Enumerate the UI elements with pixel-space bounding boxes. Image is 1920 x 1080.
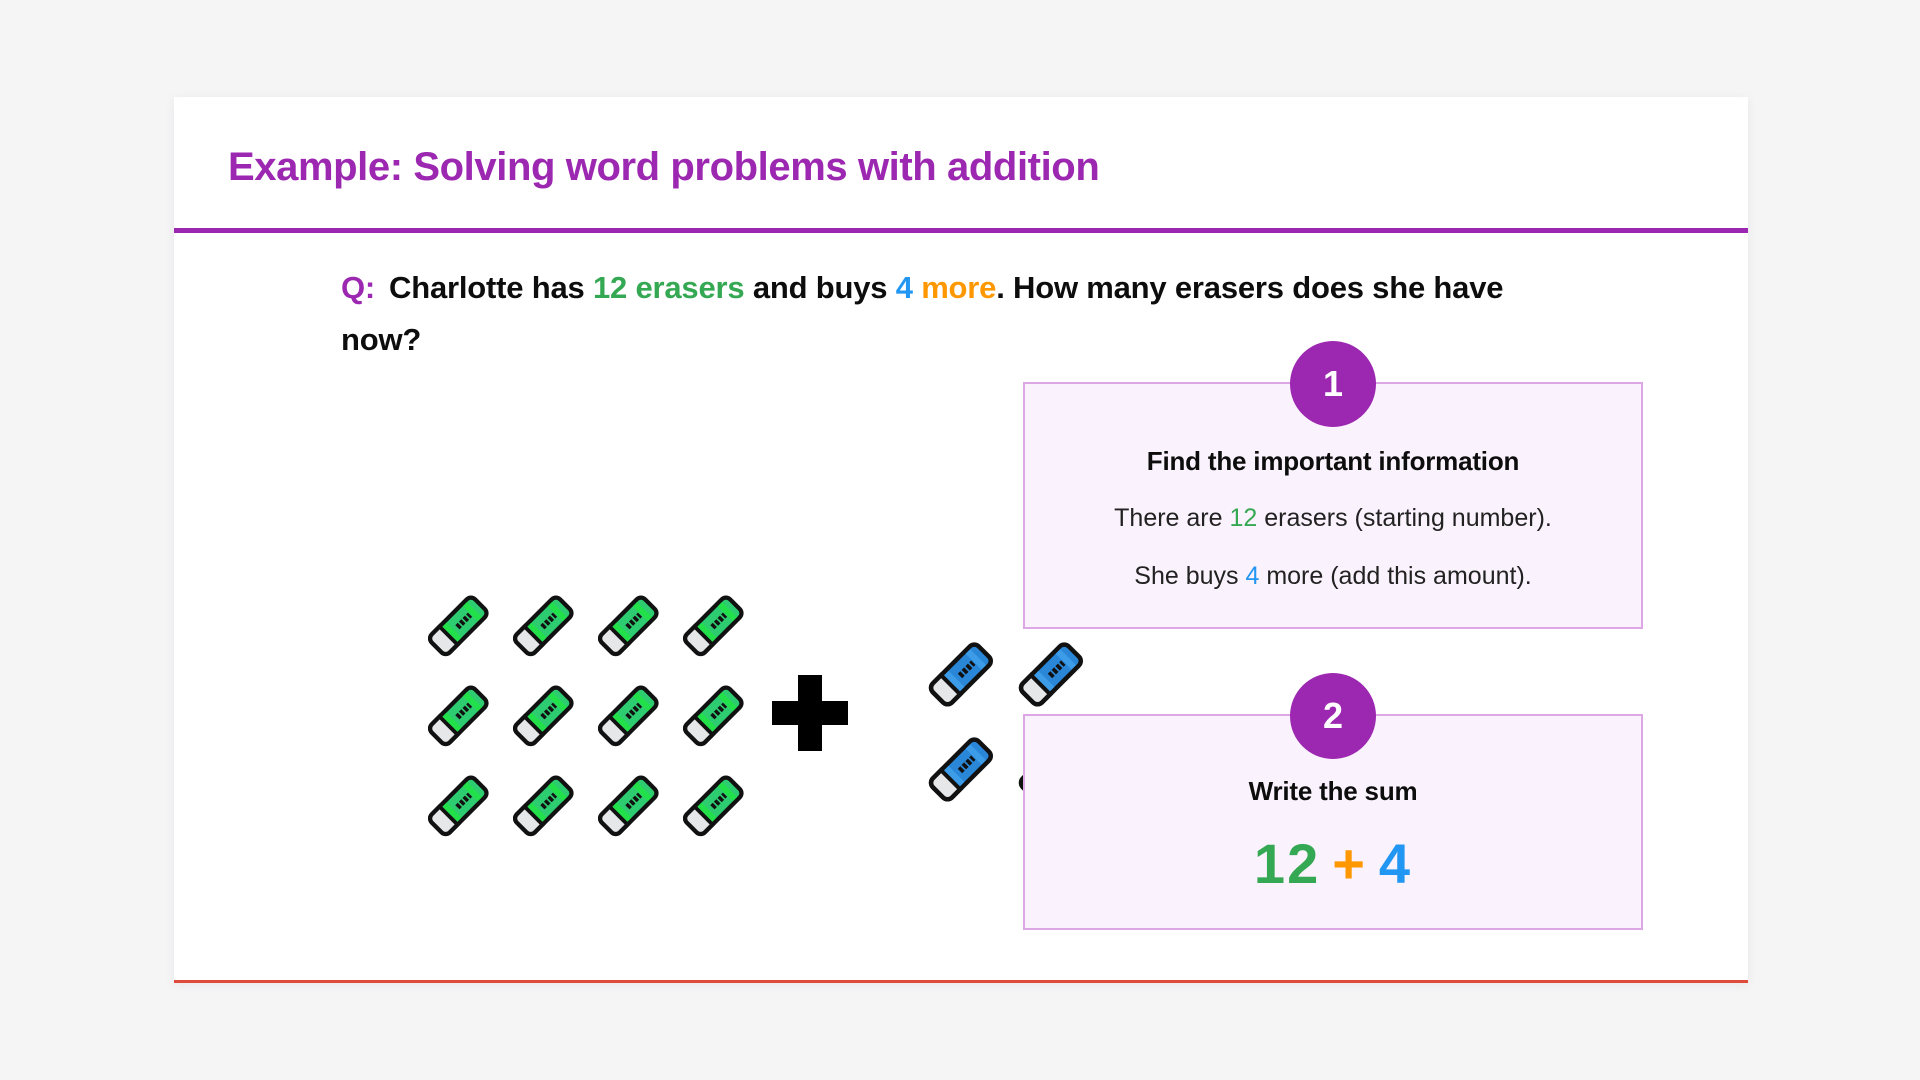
blue-eraser bbox=[1004, 625, 1094, 720]
green-eraser bbox=[499, 759, 584, 849]
step-1-line-1-number: 12 bbox=[1229, 504, 1257, 532]
step-1-line-2-number: 4 bbox=[1245, 562, 1259, 590]
step-1-line-1-before: There are bbox=[1114, 504, 1229, 532]
step-2-card: 2 Write the sum 12+4 bbox=[1023, 714, 1643, 930]
plus-operator-icon bbox=[772, 675, 848, 751]
green-eraser-group bbox=[414, 579, 754, 849]
step-1-badge: 1 bbox=[1290, 341, 1376, 427]
step-2-badge: 2 bbox=[1290, 673, 1376, 759]
green-eraser bbox=[584, 579, 669, 669]
step-1-line-1: There are 12 erasers (starting number). bbox=[1025, 504, 1641, 533]
sum-expression: 12+4 bbox=[1025, 831, 1641, 896]
page-title: Example: Solving word problems with addi… bbox=[228, 145, 1099, 190]
sum-operator: + bbox=[1332, 832, 1367, 895]
sum-operand-b: 4 bbox=[1379, 832, 1412, 895]
question-space bbox=[913, 270, 921, 305]
green-eraser bbox=[669, 579, 754, 669]
question-marker: Q: bbox=[341, 270, 375, 305]
question-highlight-more: more bbox=[921, 270, 996, 305]
question-part-2: and buys bbox=[744, 270, 895, 305]
step-1-line-1-after: erasers (starting number). bbox=[1257, 504, 1552, 532]
green-eraser bbox=[669, 759, 754, 849]
blue-eraser bbox=[914, 720, 1004, 815]
green-eraser bbox=[584, 759, 669, 849]
blue-eraser bbox=[914, 625, 1004, 720]
green-eraser bbox=[499, 579, 584, 669]
plus-vertical-bar bbox=[798, 675, 822, 751]
question-highlight-count: 12 erasers bbox=[593, 270, 744, 305]
green-eraser-grid bbox=[414, 579, 754, 849]
question-highlight-number: 4 bbox=[896, 270, 913, 305]
step-1-line-2: She buys 4 more (add this amount). bbox=[1025, 562, 1641, 591]
title-divider bbox=[174, 228, 1748, 233]
step-1-heading: Find the important information bbox=[1025, 446, 1641, 477]
step-1-line-2-before: She buys bbox=[1134, 562, 1245, 590]
slide-bottom-rule bbox=[174, 980, 1748, 983]
green-eraser bbox=[499, 669, 584, 759]
step-2-heading: Write the sum bbox=[1025, 776, 1641, 807]
slide-card: Example: Solving word problems with addi… bbox=[174, 97, 1748, 983]
step-1-card: 1 Find the important information There a… bbox=[1023, 382, 1643, 629]
sum-operand-a: 12 bbox=[1254, 832, 1320, 895]
green-eraser bbox=[584, 669, 669, 759]
green-eraser bbox=[414, 669, 499, 759]
question-part-1: Charlotte has bbox=[389, 270, 593, 305]
green-eraser bbox=[414, 759, 499, 849]
green-eraser bbox=[669, 669, 754, 759]
step-1-line-2-after: more (add this amount). bbox=[1259, 562, 1531, 590]
green-eraser bbox=[414, 579, 499, 669]
